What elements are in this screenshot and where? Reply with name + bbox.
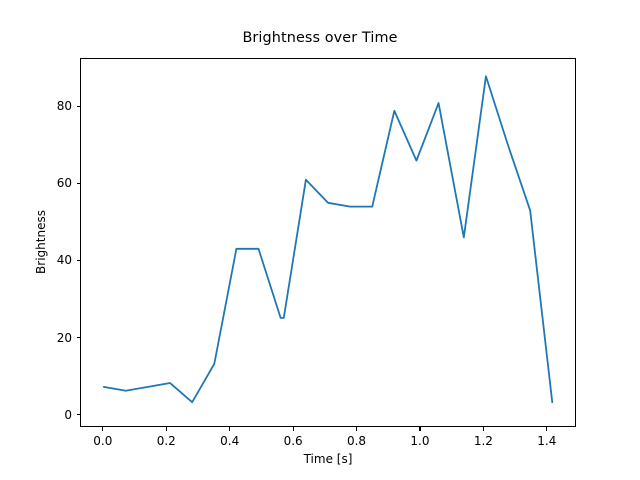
x-axis-tick-label: 1.4 [537,434,556,448]
y-axis-tick-label: 40 [12,253,72,267]
x-axis-tick-mark [293,427,294,431]
x-axis-label: Time [s] [80,452,576,466]
y-axis-tick-mark [77,337,81,338]
y-axis-tick-label: 60 [12,176,72,190]
x-axis-tick-label: 1.0 [410,434,429,448]
plot-area [80,58,576,427]
x-axis-tick-mark [229,427,230,431]
y-axis-tick-mark [77,260,81,261]
x-axis-tick-label: 1.2 [474,434,493,448]
x-axis-tick-label: 0.6 [284,434,303,448]
x-axis-tick-label: 0.4 [220,434,239,448]
y-axis-tick-mark [77,183,81,184]
chart-title: Brightness over Time [0,30,640,46]
y-axis-tick-mark [77,414,81,415]
x-axis-tick-mark [166,427,167,431]
x-axis-tick-mark [483,427,484,431]
x-axis-tick-label: 0.8 [347,434,366,448]
y-axis-tick-mark [77,106,81,107]
y-axis-tick-label: 0 [12,408,72,422]
x-axis-tick-mark [356,427,357,431]
x-axis-tick-label: 0.2 [157,434,176,448]
chart-figure: Brightness over Time Brightness Time [s]… [0,0,640,480]
data-series-line [104,76,553,402]
x-axis-tick-label: 0.0 [93,434,112,448]
x-axis-tick-mark [419,427,420,431]
x-axis-tick-mark [546,427,547,431]
x-axis-tick-mark [102,427,103,431]
data-line-svg [81,59,575,426]
y-axis-tick-label: 80 [12,99,72,113]
y-axis-tick-label: 20 [12,331,72,345]
